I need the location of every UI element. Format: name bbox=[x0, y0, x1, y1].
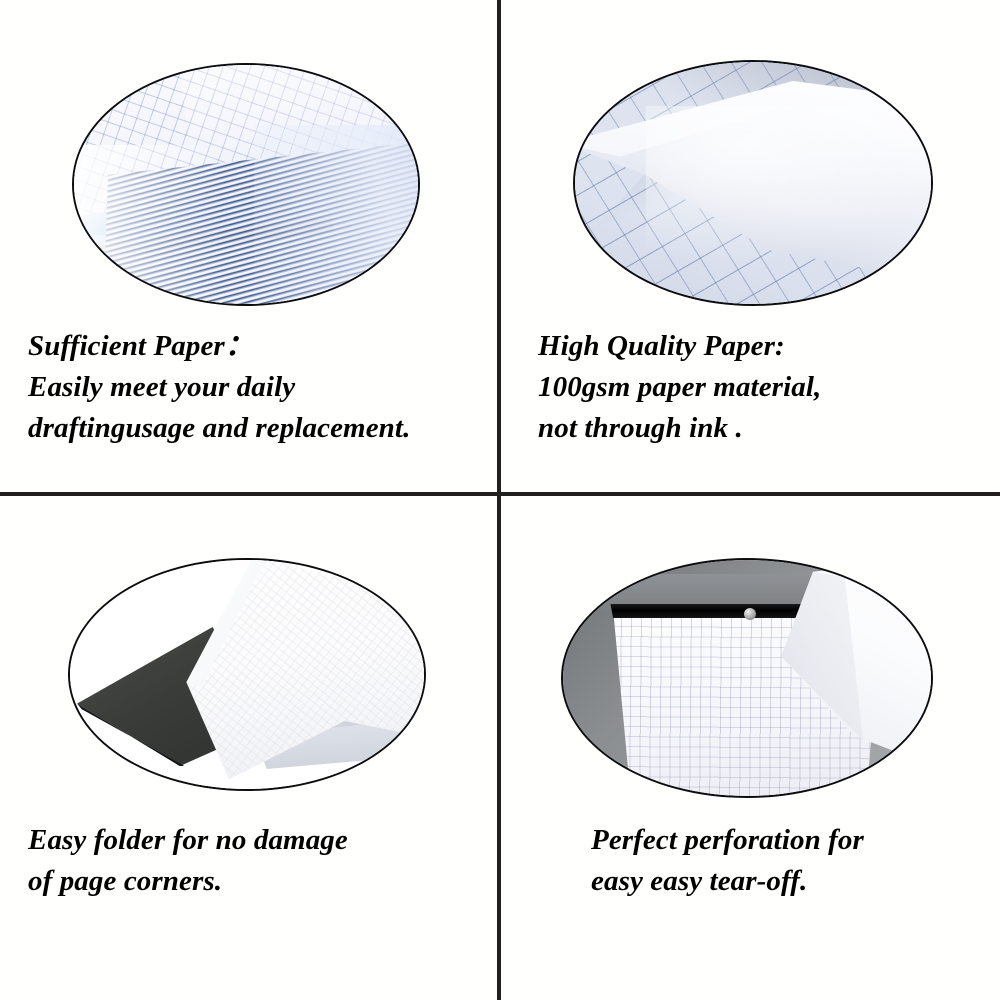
tear-off-pad-illustration bbox=[563, 560, 931, 796]
feature-grid-board: Sufficient Paper： Easily meet your daily… bbox=[0, 0, 1000, 1000]
fan-left-fade bbox=[74, 145, 224, 306]
image-curled-page-over-grid-sheet bbox=[573, 60, 933, 306]
image-folded-page-corner-over-backing-board bbox=[68, 558, 426, 791]
image-stack-of-graph-paper-sheets bbox=[72, 63, 420, 306]
image-pad-with-black-binding-and-tear-off-page bbox=[561, 558, 933, 798]
curled-page-illustration bbox=[575, 62, 931, 304]
paper-stack-illustration bbox=[74, 65, 418, 304]
caption-perfect-perforation: Perfect perforation for easy easy tear-o… bbox=[591, 820, 996, 902]
panel-perfect-perforation: Perfect perforation for easy easy tear-o… bbox=[501, 496, 998, 1000]
panel-high-quality-paper: High Quality Paper: 100gsm paper materia… bbox=[501, 0, 998, 492]
fan-right-fade bbox=[254, 125, 420, 306]
page-gloss-highlight bbox=[646, 106, 933, 275]
caption-sufficient-paper: Sufficient Paper： Easily meet your daily… bbox=[28, 326, 488, 450]
binding-rivet-icon bbox=[744, 608, 756, 620]
panel-sufficient-paper: Sufficient Paper： Easily meet your daily… bbox=[0, 0, 497, 492]
folded-corner-illustration bbox=[70, 560, 424, 789]
caption-easy-folder: Easy folder for no damage of page corner… bbox=[28, 820, 483, 902]
caption-high-quality-paper: High Quality Paper: 100gsm paper materia… bbox=[538, 326, 993, 450]
panel-easy-folder: Easy folder for no damage of page corner… bbox=[0, 496, 497, 1000]
